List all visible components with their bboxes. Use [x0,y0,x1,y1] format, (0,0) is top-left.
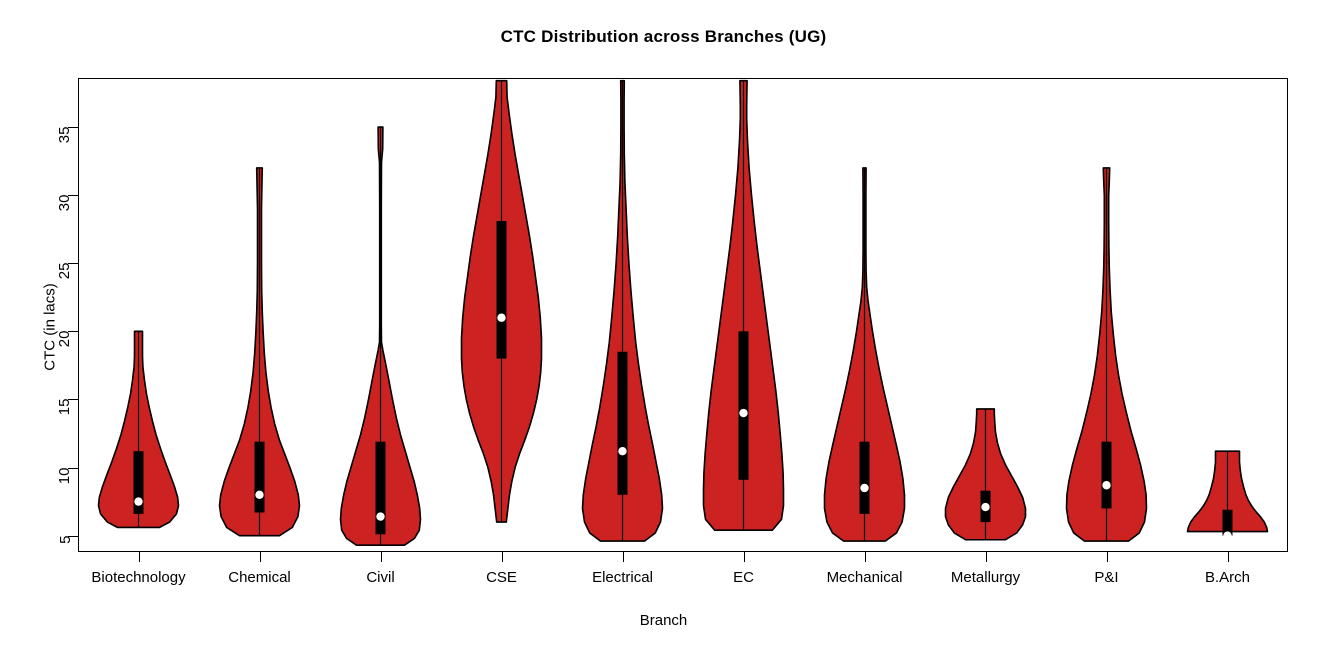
iqr-box [860,442,870,514]
violin-civil [341,127,421,545]
x-tick-label: Chemical [228,569,291,586]
median-marker [134,497,142,505]
x-tick-label: EC [733,569,754,586]
y-tick-label: 15 [57,399,74,416]
x-tick-label: Civil [366,569,394,586]
violin-plot-figure: CTC Distribution across Branches (UG) CT… [0,0,1327,653]
violin-mechanical [825,168,905,541]
x-tick-mark [865,552,866,562]
x-tick-label: Biotechnology [91,569,185,586]
x-tick-mark [986,552,987,562]
y-tick-label: 35 [57,127,74,144]
violin-series-layer [78,78,1288,552]
x-tick-mark [623,552,624,562]
x-tick-mark [1107,552,1108,562]
median-marker [739,409,747,417]
median-marker [860,484,868,492]
x-tick-mark [1228,552,1229,562]
x-tick-label: P&I [1094,569,1118,586]
x-tick-mark [502,552,503,562]
x-tick-mark [260,552,261,562]
violin-electrical [583,81,663,541]
violin-chemical [220,168,300,536]
violin-b-arch [1188,451,1268,540]
median-marker [1102,481,1110,489]
chart-title: CTC Distribution across Branches (UG) [0,27,1327,47]
iqr-box [739,331,749,479]
x-tick-label: Mechanical [827,569,903,586]
x-tick-mark [381,552,382,562]
plot-area [78,78,1288,552]
x-tick-label: Metallurgy [951,569,1020,586]
iqr-box [497,221,507,359]
median-marker [497,314,505,322]
median-marker [255,491,263,499]
y-tick-label: 30 [57,195,74,212]
y-tick-label: 25 [57,263,74,280]
violin-metallurgy [946,409,1026,540]
x-tick-mark [744,552,745,562]
x-tick-label: CSE [486,569,517,586]
violin-biotechnology [99,331,179,527]
violin-p-i [1067,168,1147,541]
y-tick-label: 10 [57,467,74,484]
x-tick-label: Electrical [592,569,653,586]
x-axis-title: Branch [0,612,1327,629]
median-marker [1223,531,1231,539]
median-marker [618,447,626,455]
iqr-box [1102,442,1112,509]
y-tick-label: 20 [57,331,74,348]
y-tick-label: 5 [57,535,74,543]
x-axis: BiotechnologyChemicalCivilCSEElectricalE… [0,552,1327,653]
median-marker [981,503,989,511]
median-marker [376,512,384,520]
x-tick-mark [139,552,140,562]
violin-cse [462,81,542,522]
iqr-box [255,442,265,513]
y-axis-title: CTC (in lacs) [41,283,58,371]
x-tick-label: B.Arch [1205,569,1250,586]
iqr-box [618,352,628,495]
violin-ec [704,81,784,530]
